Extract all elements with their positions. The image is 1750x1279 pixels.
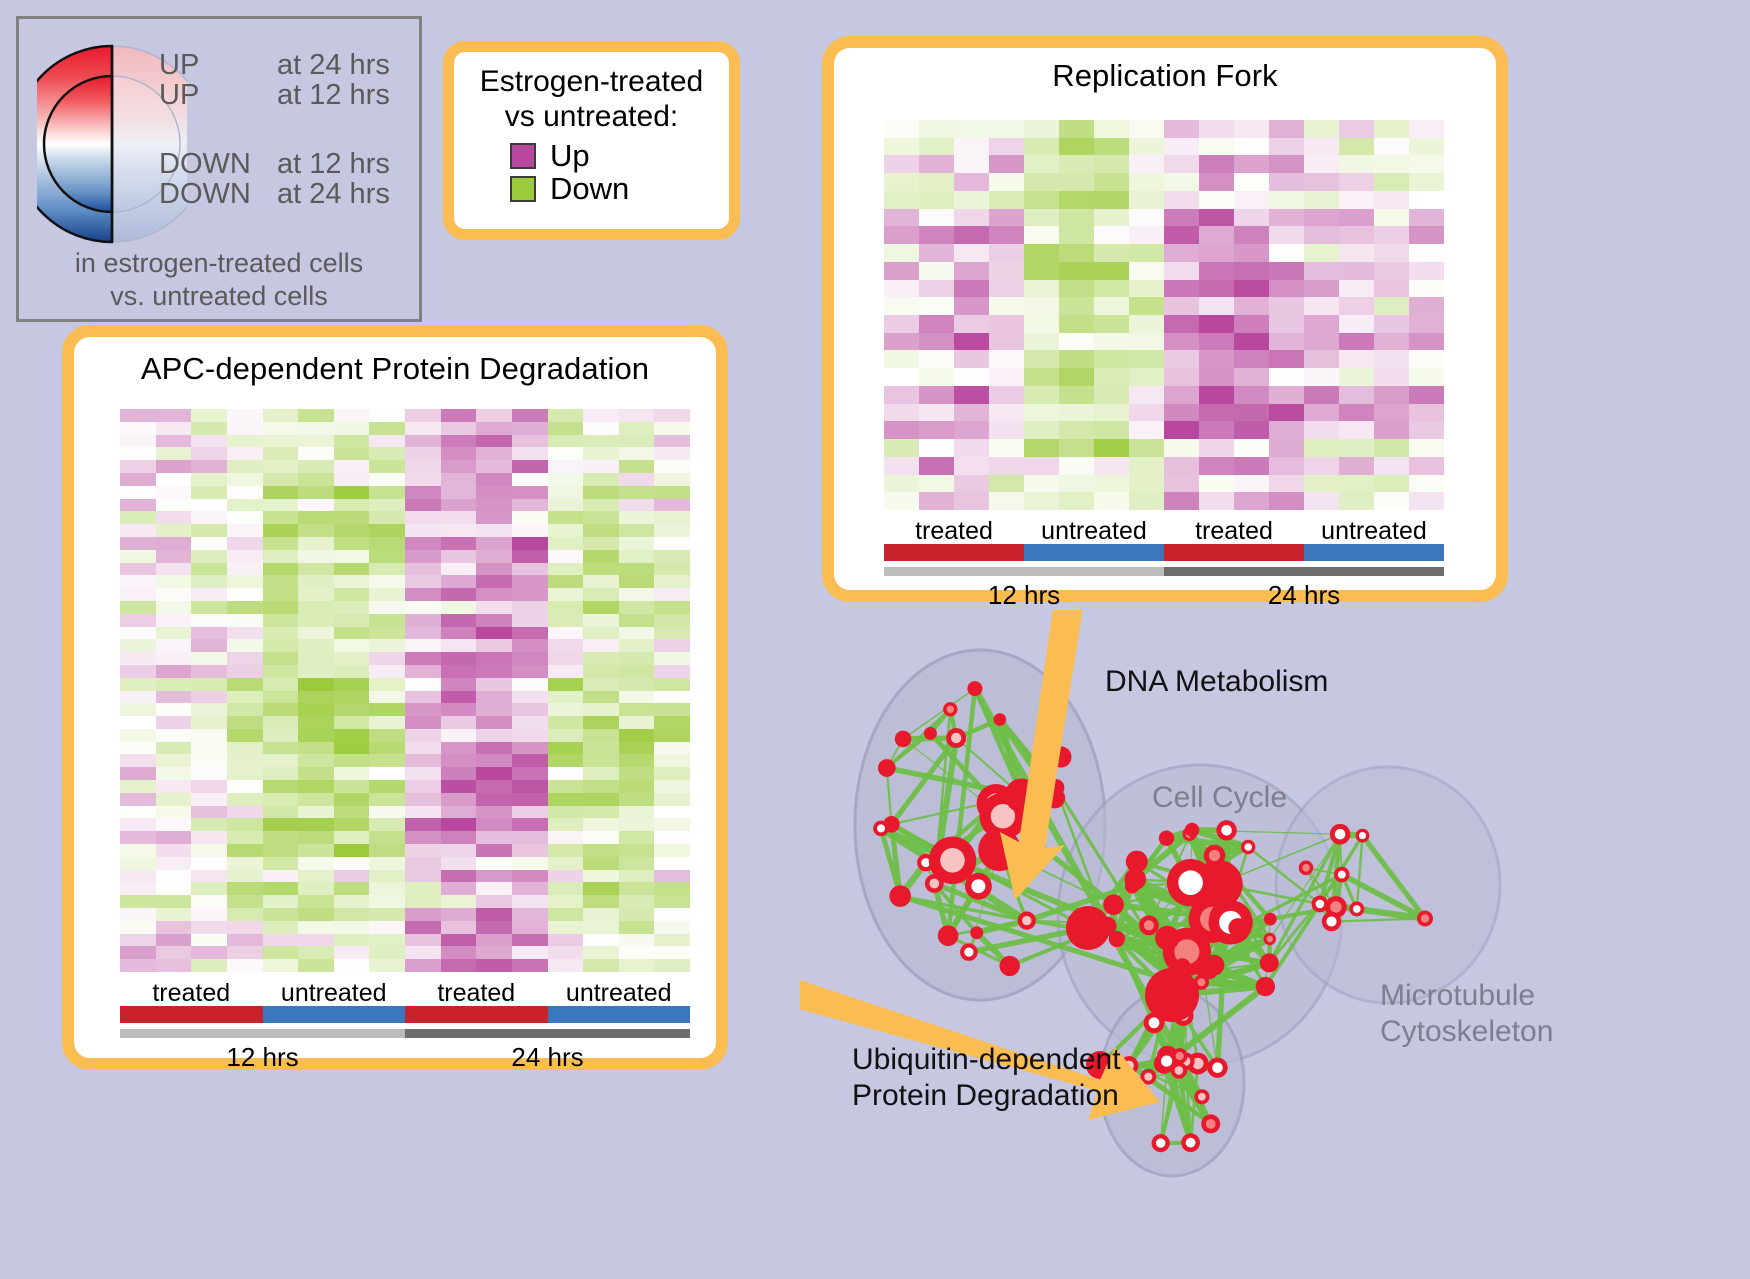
heatmap-cell <box>227 844 263 857</box>
network-node[interactable] <box>1334 867 1350 883</box>
heatmap-cell <box>619 447 655 460</box>
time-color-bar <box>884 567 1444 576</box>
network-node[interactable] <box>1139 915 1159 935</box>
heatmap-cell <box>263 588 299 601</box>
network-node[interactable] <box>1264 933 1276 945</box>
heatmap-cell <box>619 754 655 767</box>
heatmap-cell <box>884 244 919 262</box>
heatmap-cell <box>512 447 548 460</box>
heatmap-cell <box>583 882 619 895</box>
updown-legend-card: Estrogen-treated vs untreated: Up Down <box>443 41 740 240</box>
network-node[interactable] <box>1159 831 1174 846</box>
heatmap-cell <box>334 870 370 883</box>
heatmap-cell <box>1234 386 1269 404</box>
heatmap-cell <box>476 537 512 550</box>
heatmap-cell <box>405 652 441 665</box>
heatmap-cell <box>919 280 954 298</box>
heatmap-cell <box>619 563 655 576</box>
heatmap-cell <box>1059 439 1094 457</box>
heatmap-cell <box>1339 404 1374 422</box>
heatmap-cell <box>1199 492 1234 510</box>
network-node[interactable] <box>1172 1048 1188 1064</box>
heatmap-cell <box>954 262 989 280</box>
heatmap-cell <box>654 716 690 729</box>
heatmap-cell <box>512 588 548 601</box>
network-node[interactable] <box>873 821 889 837</box>
heatmap-cell <box>191 959 227 972</box>
heatmap-cell <box>191 537 227 550</box>
heatmap-cell <box>298 627 334 640</box>
cluster-label-microtubule-cytoskeleton: Microtubule Cytoskeleton <box>1380 978 1532 1050</box>
heatmap-cell <box>654 435 690 448</box>
heatmap-cell <box>227 729 263 742</box>
heatmap-cell <box>884 421 919 439</box>
group-label: untreated <box>548 980 691 1006</box>
network-node[interactable] <box>895 731 912 748</box>
heatmap-cell <box>120 486 156 499</box>
heatmap-cell <box>369 563 405 576</box>
network-node[interactable] <box>1152 1134 1170 1152</box>
heatmap-cell <box>369 652 405 665</box>
heatmap-cell <box>191 422 227 435</box>
heatmap-cell <box>619 742 655 755</box>
heatmap-cell <box>1059 368 1094 386</box>
heatmap-cell <box>405 678 441 691</box>
heatmap-cell <box>512 844 548 857</box>
network-node[interactable] <box>1356 829 1370 843</box>
heatmap-cell <box>919 244 954 262</box>
heatmap-cell <box>441 499 477 512</box>
heatmap-cell <box>512 767 548 780</box>
heatmap-cell <box>1374 350 1409 368</box>
heatmap-cell <box>512 716 548 729</box>
heatmap-cell <box>441 691 477 704</box>
heatmap-cell <box>334 563 370 576</box>
heatmap-cell <box>989 209 1024 227</box>
heatmap-cell <box>548 882 584 895</box>
network-node[interactable] <box>970 926 983 939</box>
heatmap-cell <box>619 588 655 601</box>
network-node[interactable] <box>1194 1089 1209 1104</box>
color-key-direction: DOWN <box>159 150 277 180</box>
group-label: treated <box>405 980 548 1006</box>
network-node[interactable] <box>1000 956 1020 976</box>
heatmap-cell <box>654 563 690 576</box>
heatmap-cell <box>191 563 227 576</box>
heatmap-cell <box>120 563 156 576</box>
heatmap-cell <box>1164 244 1199 262</box>
heatmap-cell <box>954 120 989 138</box>
heatmap-cell <box>1374 386 1409 404</box>
heatmap-cell <box>1059 297 1094 315</box>
heatmap-cell <box>919 315 954 333</box>
network-node[interactable] <box>1181 1133 1200 1152</box>
heatmap-cell <box>1234 262 1269 280</box>
panel-title-apc-dependent: APC-dependent Protein Degradation <box>74 351 716 387</box>
color-key-rows: UP at 24 hrs UP at 12 hrs DOWN at 12 hrs… <box>159 51 409 209</box>
heatmap-cell <box>1129 280 1164 298</box>
network-node[interactable] <box>924 727 937 740</box>
heatmap-cell <box>1234 475 1269 493</box>
heatmap-cell <box>1199 138 1234 156</box>
heatmap-cell <box>548 870 584 883</box>
heatmap-cell <box>1094 280 1129 298</box>
heatmap-cell <box>227 486 263 499</box>
heatmap-cell <box>227 895 263 908</box>
network-node[interactable] <box>1125 879 1140 894</box>
heatmap-cell <box>1129 457 1164 475</box>
network-node[interactable] <box>1204 955 1225 976</box>
heatmap-cell <box>989 226 1024 244</box>
heatmap-cell <box>263 921 299 934</box>
heatmap-cell <box>191 742 227 755</box>
network-node[interactable] <box>1018 912 1036 930</box>
heatmap-cell <box>619 665 655 678</box>
heatmap-cell <box>369 537 405 550</box>
heatmap-cell <box>476 806 512 819</box>
heatmap-cell <box>1059 457 1094 475</box>
heatmap-cell <box>548 422 584 435</box>
heatmap-cell <box>1094 191 1129 209</box>
heatmap-cell <box>512 857 548 870</box>
heatmap-cell <box>191 486 227 499</box>
network-node[interactable] <box>1417 911 1433 927</box>
heatmap-cell <box>548 946 584 959</box>
heatmap-cell <box>512 691 548 704</box>
heatmap-cell <box>654 499 690 512</box>
network-node[interactable] <box>1204 845 1226 867</box>
heatmap-cell <box>919 386 954 404</box>
panel-title-replication-fork: Replication Fork <box>834 58 1496 94</box>
heatmap-cell <box>120 524 156 537</box>
network-node[interactable] <box>1330 824 1351 845</box>
heatmap-cell <box>654 946 690 959</box>
color-key-caption-line1: in estrogen-treated cells <box>19 247 419 280</box>
heatmap-cell <box>298 588 334 601</box>
heatmap-cell <box>619 780 655 793</box>
heatmap-cell <box>1339 280 1374 298</box>
heatmap-cell <box>298 870 334 883</box>
heatmap-cell <box>441 844 477 857</box>
legend-swatch-down-icon <box>510 176 536 202</box>
heatmap-cell <box>369 524 405 537</box>
heatmap-cell <box>884 191 919 209</box>
heatmap-cell <box>476 460 512 473</box>
heatmap-cell <box>583 754 619 767</box>
heatmap-cell <box>405 639 441 652</box>
heatmap-cell <box>405 499 441 512</box>
heatmap-cell <box>954 421 989 439</box>
heatmap-cell <box>120 588 156 601</box>
heatmap-cell <box>369 678 405 691</box>
heatmap-cell <box>989 333 1024 351</box>
heatmap-cell <box>989 492 1024 510</box>
heatmap-cell <box>156 831 192 844</box>
heatmap-cell <box>583 486 619 499</box>
treatment-color-bar <box>120 1006 690 1023</box>
heatmap-cell <box>654 780 690 793</box>
heatmap-cell <box>191 754 227 767</box>
network-node[interactable] <box>1103 894 1124 915</box>
heatmap-cell <box>654 537 690 550</box>
heatmap-cell <box>263 473 299 486</box>
network-node[interactable] <box>946 728 966 748</box>
heatmap-cell <box>405 959 441 972</box>
heatmap-cell <box>156 908 192 921</box>
heatmap-cell <box>1024 457 1059 475</box>
network-node[interactable] <box>1349 902 1364 917</box>
heatmap-cell <box>1164 173 1199 191</box>
heatmap-cell <box>954 386 989 404</box>
heatmap-cell <box>298 793 334 806</box>
heatmap-cell <box>369 422 405 435</box>
network-node[interactable] <box>1201 1114 1220 1133</box>
heatmap-cell <box>548 678 584 691</box>
heatmap-cell <box>1024 475 1059 493</box>
heatmap-cell <box>476 524 512 537</box>
heatmap-cell <box>884 297 919 315</box>
heatmap-cell <box>954 297 989 315</box>
heatmap-cell <box>227 882 263 895</box>
heatmap-cell <box>191 409 227 422</box>
heatmap-cell <box>654 639 690 652</box>
heatmap-cell <box>156 818 192 831</box>
heatmap-cell <box>369 921 405 934</box>
heatmap-cell <box>619 882 655 895</box>
network-node[interactable] <box>994 713 1007 726</box>
heatmap-cell <box>405 563 441 576</box>
heatmap-cell <box>405 422 441 435</box>
heatmap-cell <box>1304 173 1339 191</box>
heatmap-cell <box>369 703 405 716</box>
heatmap-cell <box>476 716 512 729</box>
heatmap-cell <box>548 934 584 947</box>
heatmap-cell <box>989 421 1024 439</box>
heatmap-cell <box>191 793 227 806</box>
heatmap-cell <box>227 959 263 972</box>
heatmap-cell <box>227 588 263 601</box>
heatmap-cell <box>156 499 192 512</box>
network-node[interactable] <box>1299 861 1314 876</box>
heatmap-cell <box>405 780 441 793</box>
time-labels: 12 hrs 24 hrs <box>884 580 1444 611</box>
heatmap-cell <box>298 665 334 678</box>
heatmap-cell <box>334 511 370 524</box>
heatmap-cell <box>1409 209 1444 227</box>
heatmap-cell <box>156 895 192 908</box>
heatmap-cell <box>227 524 263 537</box>
time-label: 12 hrs <box>884 580 1164 611</box>
heatmap-cell <box>1269 439 1304 457</box>
heatmap-cell <box>156 627 192 640</box>
heatmap-cell <box>120 537 156 550</box>
heatmap-cell <box>1234 457 1269 475</box>
network-node[interactable] <box>1322 912 1341 931</box>
heatmap-cell <box>1024 155 1059 173</box>
heatmap-cell <box>1164 262 1199 280</box>
cluster-label-line1: Microtubule <box>1380 978 1532 1014</box>
heatmap-cell <box>1164 297 1199 315</box>
heatmap-cell <box>1409 333 1444 351</box>
heatmap-cell <box>1234 120 1269 138</box>
treatment-bar-segment <box>405 1006 548 1023</box>
network-node[interactable] <box>1066 906 1110 950</box>
heatmap-cell <box>369 409 405 422</box>
heatmap-cell <box>583 639 619 652</box>
color-key-caption: in estrogen-treated cells vs. untreated … <box>19 247 419 313</box>
group-label: treated <box>1164 518 1304 544</box>
heatmap-cell <box>441 959 477 972</box>
network-node[interactable] <box>967 681 982 696</box>
network-node[interactable] <box>925 874 944 893</box>
heatmap-cell <box>1094 439 1129 457</box>
color-key-row: UP at 24 hrs <box>159 51 409 81</box>
heatmap-cell <box>298 422 334 435</box>
heatmap-cell <box>619 460 655 473</box>
heatmap-cell <box>1094 244 1129 262</box>
heatmap-cell <box>298 934 334 947</box>
heatmap-cell <box>1094 226 1129 244</box>
heatmap-cell <box>884 262 919 280</box>
heatmap-cell <box>441 447 477 460</box>
heatmap-cell <box>1304 368 1339 386</box>
heatmap-cell <box>120 921 156 934</box>
time-bar-segment <box>884 567 1164 576</box>
heatmap-cell <box>1269 457 1304 475</box>
heatmap-cell <box>654 742 690 755</box>
heatmap-cell <box>954 209 989 227</box>
color-key-direction: UP <box>159 51 277 81</box>
heatmap-cell <box>1129 350 1164 368</box>
heatmap-cell <box>227 678 263 691</box>
network-node[interactable] <box>938 925 959 946</box>
heatmap-cell <box>619 716 655 729</box>
heatmap-cell <box>619 844 655 857</box>
heatmap-cell <box>476 754 512 767</box>
network-node[interactable] <box>889 885 911 907</box>
network-node[interactable] <box>1207 1058 1227 1078</box>
heatmap-cell <box>989 191 1024 209</box>
network-node[interactable] <box>1264 913 1277 926</box>
legend-item-up: Up <box>510 140 729 171</box>
heatmap-cell <box>619 946 655 959</box>
heatmap-cell <box>156 691 192 704</box>
heatmap-cell <box>263 486 299 499</box>
heatmap-cell <box>263 882 299 895</box>
heatmap-cell <box>476 473 512 486</box>
heatmap-cell <box>369 742 405 755</box>
network-node[interactable] <box>943 702 957 716</box>
heatmap-cell <box>1199 315 1234 333</box>
heatmap-cell <box>120 678 156 691</box>
heatmap-cell <box>120 754 156 767</box>
network-node[interactable] <box>1145 968 1199 1022</box>
cluster-label-dna-metabolism: DNA Metabolism <box>1105 664 1328 700</box>
heatmap-cell <box>583 934 619 947</box>
heatmap-cell <box>1164 350 1199 368</box>
heatmap-cell <box>1059 492 1094 510</box>
heatmap-cell <box>405 767 441 780</box>
heatmap-cell <box>334 460 370 473</box>
heatmap-cell <box>369 831 405 844</box>
heatmap-cell <box>619 639 655 652</box>
network-node[interactable] <box>1126 851 1148 873</box>
heatmap-cell <box>369 946 405 959</box>
network-node[interactable] <box>1256 977 1275 996</box>
heatmap-cell <box>120 447 156 460</box>
heatmap-cell <box>512 537 548 550</box>
heatmap-cell <box>334 742 370 755</box>
heatmap-cell <box>989 155 1024 173</box>
heatmap-cell <box>884 457 919 475</box>
network-node[interactable] <box>1167 859 1214 906</box>
heatmap-cell <box>884 439 919 457</box>
heatmap-cell <box>369 435 405 448</box>
heatmap-cell <box>654 934 690 947</box>
heatmap-cell <box>512 921 548 934</box>
heatmap-cell <box>512 895 548 908</box>
network-node[interactable] <box>1228 918 1247 937</box>
heatmap-cell <box>369 575 405 588</box>
heatmap-cell <box>476 678 512 691</box>
legend-title: Estrogen-treated vs untreated: <box>454 64 729 134</box>
heatmap-cell <box>298 524 334 537</box>
treatment-bar-segment <box>548 1006 691 1023</box>
heatmap-cell <box>512 601 548 614</box>
network-node[interactable] <box>960 943 978 961</box>
network-node[interactable] <box>1312 896 1329 913</box>
heatmap-cell <box>512 729 548 742</box>
heatmap-cell <box>369 780 405 793</box>
heatmap-cell <box>1059 155 1094 173</box>
heatmap-cell <box>583 665 619 678</box>
heatmap-cell <box>334 716 370 729</box>
network-node[interactable] <box>1171 1062 1188 1079</box>
heatmap-cell <box>548 908 584 921</box>
heatmap-cell <box>405 716 441 729</box>
heatmap-cell <box>619 435 655 448</box>
heatmap-cell <box>1199 244 1234 262</box>
heatmap-cell <box>476 703 512 716</box>
network-node[interactable] <box>1216 820 1236 840</box>
heatmap-cell <box>1234 368 1269 386</box>
color-key-spacer <box>159 110 409 150</box>
heatmap-cell <box>654 652 690 665</box>
heatmap-cell <box>191 857 227 870</box>
network-node[interactable] <box>1260 953 1279 972</box>
network-node[interactable] <box>1185 823 1200 838</box>
heatmap-cell <box>120 575 156 588</box>
network-node[interactable] <box>965 873 992 900</box>
network-node[interactable] <box>1241 840 1255 854</box>
heatmap-replication-fork <box>884 120 1444 510</box>
heatmap-cell <box>989 280 1024 298</box>
heatmap-cell <box>441 908 477 921</box>
heatmap-cell <box>476 435 512 448</box>
heatmap-cell <box>1374 155 1409 173</box>
heatmap-cell <box>989 244 1024 262</box>
heatmap-cell <box>441 550 477 563</box>
network-node[interactable] <box>1155 926 1179 950</box>
heatmap-cell <box>512 486 548 499</box>
heatmap-cell <box>263 754 299 767</box>
heatmap-cell <box>548 563 584 576</box>
network-node[interactable] <box>878 759 896 777</box>
heatmap-cell <box>191 639 227 652</box>
heatmap-cell <box>191 831 227 844</box>
heatmap-cell <box>654 473 690 486</box>
heatmap-cell <box>405 870 441 883</box>
